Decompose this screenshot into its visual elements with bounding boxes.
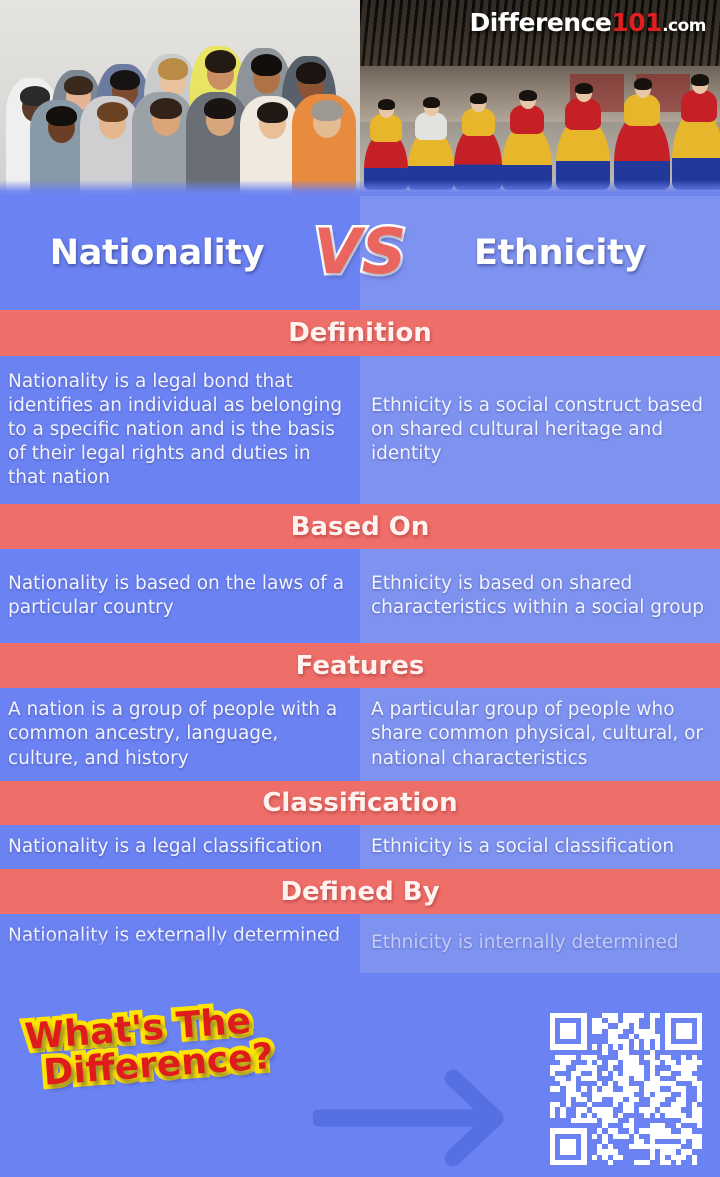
cell-right-defined-by: Ethnicity is internally determined [360, 914, 720, 973]
hero-images: Difference101.com [0, 0, 720, 196]
cell-text: Ethnicity is based on shared characteris… [371, 572, 710, 620]
section-heading-label: Classification [262, 788, 457, 818]
cell-text: Ethnicity is a social classification [371, 835, 674, 859]
section-heading-label: Definition [288, 318, 432, 348]
cell-left-classification: Nationality is a legal classification [0, 825, 360, 869]
cell-text: Nationality is a legal bond that identif… [8, 370, 350, 490]
cell-right-classification: Ethnicity is a social classification [360, 825, 720, 869]
cell-text: Nationality is a legal classification [8, 835, 322, 859]
title-left-panel: Nationality [0, 196, 360, 310]
section-body-definition: Nationality is a legal bond that identif… [0, 356, 720, 504]
section-header-classification: Classification [0, 781, 720, 825]
cell-text: A nation is a group of people with a com… [8, 698, 350, 770]
section-body-defined-by: Nationality is externally determined Eth… [0, 914, 720, 973]
whats-the-difference-badge: What's The Difference? [24, 1002, 275, 1093]
section-body-features: A nation is a group of people with a com… [0, 688, 720, 781]
cell-right-definition: Ethnicity is a social construct based on… [360, 356, 720, 504]
section-header-definition: Definition [0, 310, 720, 356]
title-band: Nationality Ethnicity VS [0, 196, 720, 310]
logo-number-101: 101 [611, 8, 662, 37]
hero-bottom-fade [0, 180, 720, 196]
logo-word-difference: Difference [469, 8, 611, 37]
section-header-based-on: Based On [0, 504, 720, 549]
section-header-features: Features [0, 643, 720, 688]
cell-left-definition: Nationality is a legal bond that identif… [0, 356, 360, 504]
title-right-label: Ethnicity [434, 233, 646, 273]
section-header-defined-by: Defined By [0, 869, 720, 914]
difference101-logo: Difference101.com [469, 8, 706, 37]
vs-badge: VS [314, 221, 407, 283]
section-body-classification: Nationality is a legal classification Et… [0, 825, 720, 869]
title-right-panel: Ethnicity [360, 196, 720, 310]
section-heading-label: Defined By [280, 877, 439, 907]
logo-suffix-com: .com [662, 16, 706, 36]
cell-text: Ethnicity is internally determined [371, 931, 679, 955]
section-heading-label: Based On [291, 512, 430, 542]
infographic-page: Difference101.com Nationality Ethnicity … [0, 0, 720, 1177]
title-left-label: Nationality [50, 233, 310, 273]
cell-text: Nationality is externally determined [8, 924, 340, 948]
cell-text: Ethnicity is a social construct based on… [371, 394, 710, 466]
cell-left-defined-by: Nationality is externally determined [0, 914, 360, 973]
section-body-based-on: Nationality is based on the laws of a pa… [0, 549, 720, 643]
cell-right-features: A particular group of people who share c… [360, 688, 720, 781]
cell-left-features: A nation is a group of people with a com… [0, 688, 360, 781]
hero-image-left [0, 0, 360, 196]
cell-right-based-on: Ethnicity is based on shared characteris… [360, 549, 720, 643]
qr-code[interactable] [550, 1013, 702, 1165]
section-heading-label: Features [296, 651, 425, 681]
cell-text: A particular group of people who share c… [371, 698, 710, 770]
cell-left-based-on: Nationality is based on the laws of a pa… [0, 549, 360, 643]
cell-text: Nationality is based on the laws of a pa… [8, 572, 350, 620]
right-arrow-icon [313, 1068, 523, 1168]
